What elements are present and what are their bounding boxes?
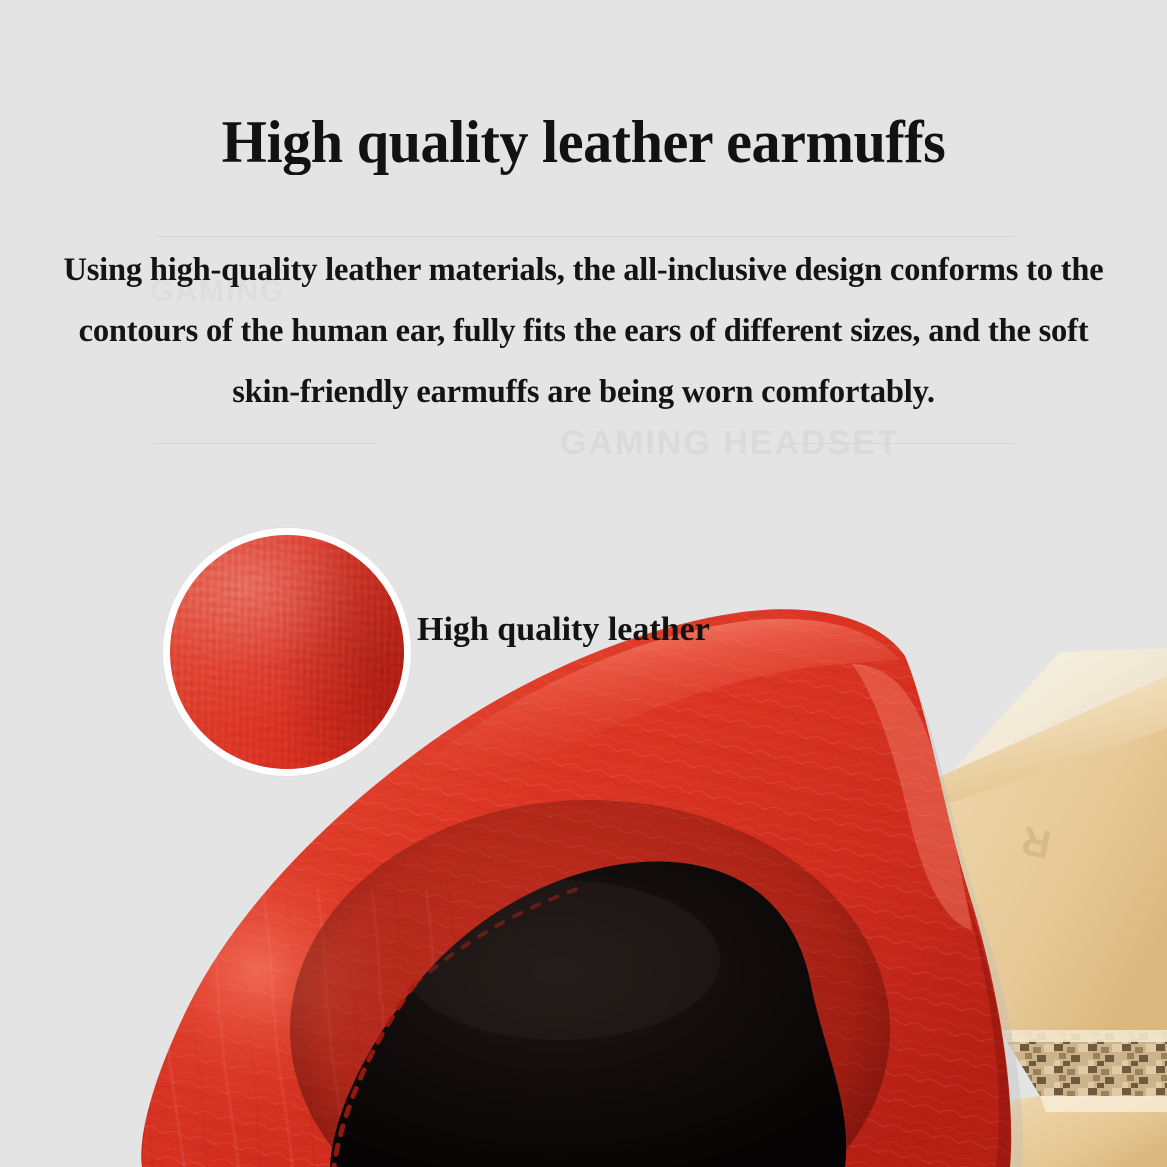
- divider-middle-right: [790, 443, 1015, 444]
- product-feature-page: GAMING GAMING HEADSET High quality leath…: [0, 0, 1167, 1167]
- leather-swatch-grain-fine: [170, 535, 404, 769]
- description-paragraph: Using high-quality leather materials, th…: [58, 240, 1109, 423]
- page-title: High quality leather earmuffs: [18, 112, 1150, 172]
- headband-lower-edge: [1040, 1096, 1167, 1112]
- divider-middle-left: [153, 443, 378, 444]
- leather-swatch-caption: High quality leather: [417, 611, 710, 649]
- divider-top: [155, 236, 1015, 237]
- headband-camo-top-edge: [1000, 1030, 1167, 1042]
- leather-swatch: [163, 528, 411, 776]
